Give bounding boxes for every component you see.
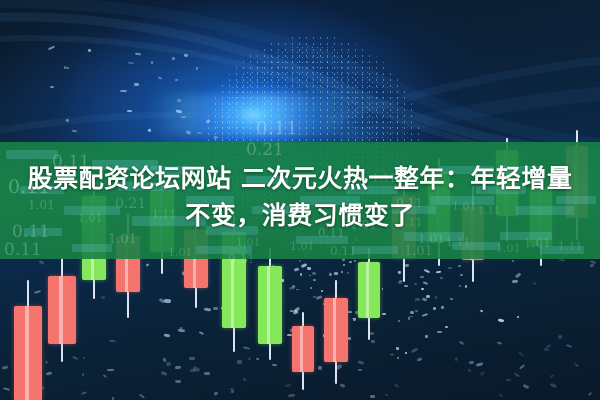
data-bar — [452, 242, 500, 250]
page-title: 股票配资论坛网站 二次元火热一整年：年轻增量 不变，消费习惯变了 — [0, 160, 600, 234]
data-value-label: 0.11 — [4, 240, 42, 260]
data-value-label: 1.01 — [108, 232, 137, 247]
data-value-label: 0.21 — [246, 140, 284, 160]
data-value-label: 1.01 — [404, 244, 433, 259]
data-bar — [296, 236, 348, 244]
data-value-label: 1.01 — [168, 246, 193, 259]
data-bar — [72, 244, 112, 252]
data-value-label: 0.11 — [228, 252, 255, 266]
data-bar — [196, 246, 252, 254]
stock-news-banner: 0.11 0.110.111.010.211.010.111.111.010.1… — [0, 0, 600, 400]
data-bar — [540, 246, 584, 254]
headline-line-2: 不变，消费习惯变了 — [8, 197, 592, 234]
data-bar — [352, 246, 398, 254]
data-bar — [6, 150, 58, 159]
headline-line-1: 股票配资论坛网站 二次元火热一整年：年轻增量 — [28, 164, 573, 193]
